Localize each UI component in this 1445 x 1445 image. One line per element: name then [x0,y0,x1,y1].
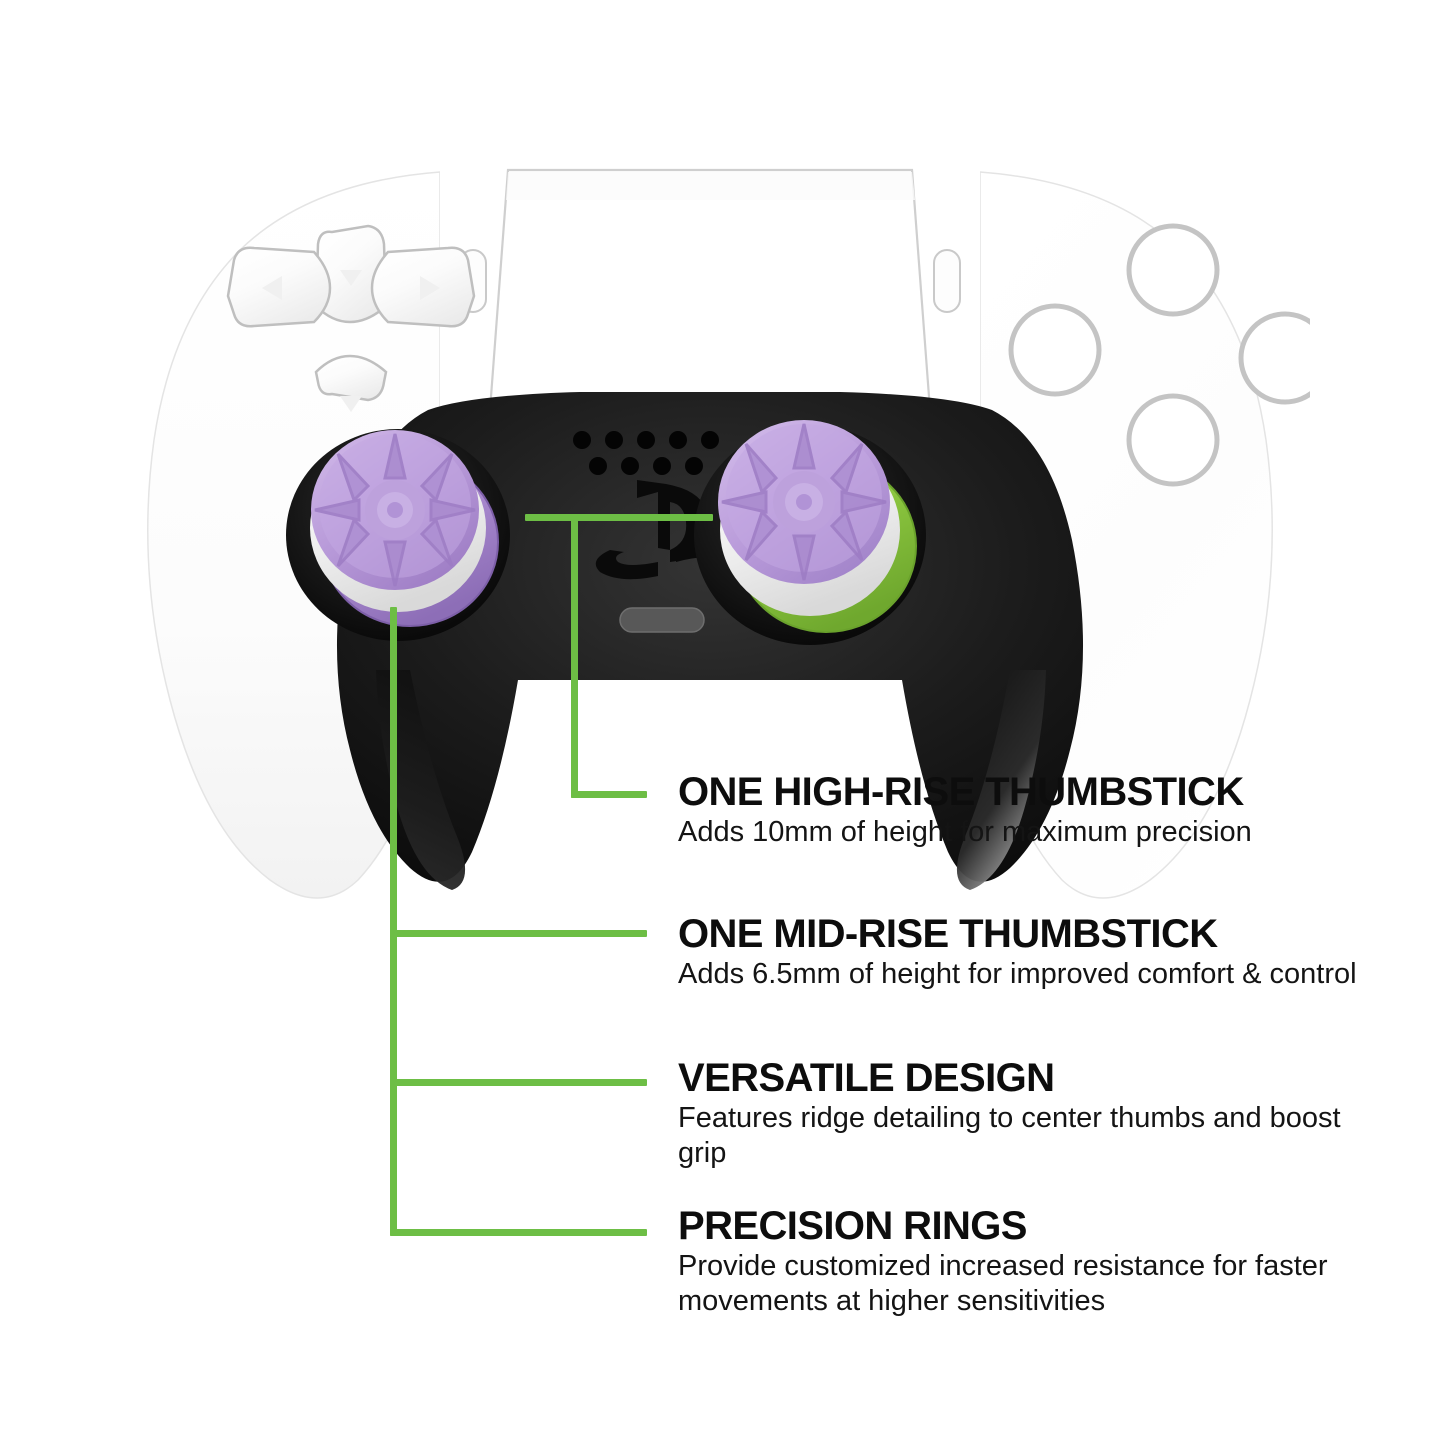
leader-spine-vertical [390,607,397,1236]
leader-mid-rise-arm [390,930,647,937]
callout-high-rise-body: Adds 10mm of height for maximum precisio… [678,815,1378,850]
callout-high-rise-title: ONE HIGH-RISE THUMBSTICK [678,772,1378,813]
leader-high-rise-vertical [571,514,578,798]
callout-versatile-design: VERSATILE DESIGN Features ridge detailin… [678,1058,1378,1172]
leader-high-rise-top [525,514,713,521]
leader-high-rise-arm [571,791,647,798]
callout-precision-rings-body: Provide customized increased resistance … [678,1249,1378,1320]
callout-mid-rise: ONE MID-RISE THUMBSTICK Adds 6.5mm of he… [678,914,1378,992]
product-infographic: ONE HIGH-RISE THUMBSTICK Adds 10mm of he… [0,0,1445,1445]
callout-precision-rings: PRECISION RINGS Provide customized incre… [678,1206,1378,1320]
microphone-mute-button [620,608,704,632]
left-thumbstick-mid-rise [286,429,510,641]
callout-mid-rise-body: Adds 6.5mm of height for improved comfor… [678,957,1378,992]
leader-precision-arm [390,1229,647,1236]
callout-high-rise: ONE HIGH-RISE THUMBSTICK Adds 10mm of he… [678,772,1378,850]
touchpad [490,170,930,410]
callout-mid-rise-title: ONE MID-RISE THUMBSTICK [678,914,1378,955]
callout-versatile-design-body: Features ridge detailing to center thumb… [678,1101,1378,1172]
callout-precision-rings-title: PRECISION RINGS [678,1206,1378,1247]
leader-versatile-arm [390,1079,647,1086]
callout-versatile-design-title: VERSATILE DESIGN [678,1058,1378,1099]
